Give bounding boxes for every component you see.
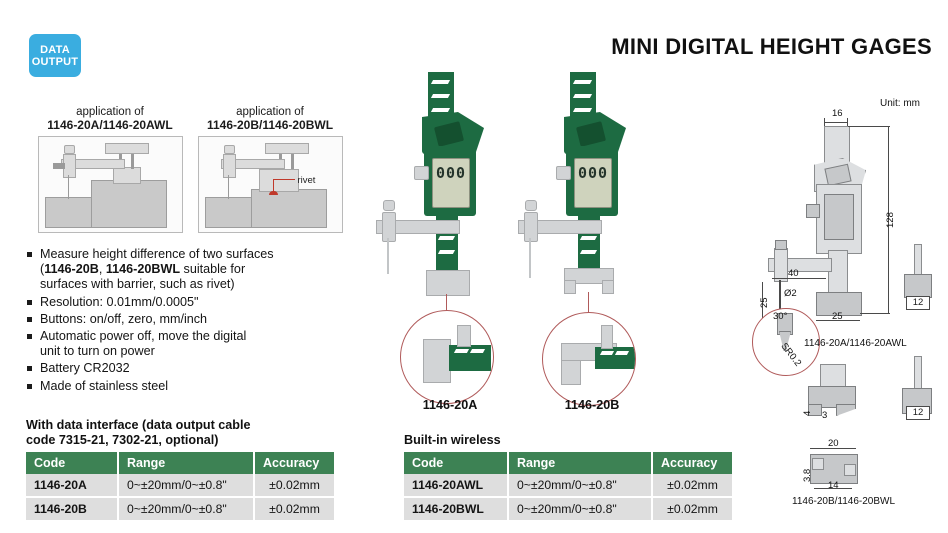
detail-callout-b xyxy=(542,312,636,406)
cell-accuracy: ±0.02mm xyxy=(254,497,334,520)
list-item: Battery CR2032 xyxy=(26,361,336,376)
dim-base-width: 25 xyxy=(832,311,843,322)
table-title: With data interface (data output cableco… xyxy=(26,418,334,448)
cell-code: 1146-20A xyxy=(26,474,118,497)
application-diagram-b: application of 1146-20B/1146-20BWL rivet xyxy=(194,106,346,233)
dim-part-b-width: 20 xyxy=(828,438,839,449)
spec-table-wireless: Built-in wireless Code Range Accuracy 11… xyxy=(404,433,732,520)
cell-code: 1146-20AWL xyxy=(404,474,508,497)
list-item: Made of stainless steel xyxy=(26,379,336,394)
application-frame-a xyxy=(38,136,183,233)
table: Code Range Accuracy 1146-20A 0~±20mm/0~±… xyxy=(26,452,334,520)
badge-line1: DATA xyxy=(40,44,70,56)
table: Code Range Accuracy 1146-20AWL 0~±20mm/0… xyxy=(404,452,732,520)
product-photo-b: 000 xyxy=(512,72,672,322)
list-item: Automatic power off, move the digitaluni… xyxy=(26,329,336,359)
application-diagram-a: application of 1146-20A/1146-20AWL xyxy=(34,106,186,233)
column-header-range: Range xyxy=(508,452,652,474)
lcd-display-b: 000 xyxy=(578,164,608,182)
column-header-code: Code xyxy=(404,452,508,474)
table-header-row: Code Range Accuracy xyxy=(26,452,334,474)
dim-part-b-step: 4 xyxy=(802,411,813,416)
dim-tip-radius: SR0.2 xyxy=(778,341,803,369)
cell-code: 1146-20B xyxy=(26,497,118,520)
column-header-accuracy: Accuracy xyxy=(652,452,732,474)
application-frame-b: rivet xyxy=(198,136,343,233)
list-item: Buttons: on/off, zero, mm/inch xyxy=(26,312,336,327)
product-label-b: 1146-20B xyxy=(532,398,652,412)
column-header-accuracy: Accuracy xyxy=(254,452,334,474)
dim-probe-length: 25 xyxy=(759,297,770,308)
data-output-badge: DATA OUTPUT xyxy=(29,34,81,77)
dim-tip-angle: 30° xyxy=(773,311,787,322)
cell-range: 0~±20mm/0~±0.8" xyxy=(508,474,652,497)
product-photo-a: 000 xyxy=(370,72,530,322)
unit-label: Unit: mm xyxy=(880,98,920,109)
dim-height: 128 xyxy=(885,212,896,228)
column-header-code: Code xyxy=(26,452,118,474)
dim-part-b-base: 14 xyxy=(828,480,839,491)
table-row: 1146-20B 0~±20mm/0~±0.8" ±0.02mm xyxy=(26,497,334,520)
table-header-row: Code Range Accuracy xyxy=(404,452,732,474)
table-row: 1146-20BWL 0~±20mm/0~±0.8" ±0.02mm xyxy=(404,497,732,520)
dim-tip-small-width: 12 xyxy=(906,296,930,310)
dim-part-b-height: 3.8 xyxy=(802,469,813,482)
table-title: Built-in wireless xyxy=(404,433,732,448)
drawing-label-a: 1146-20A/1146-20AWL xyxy=(804,338,907,349)
cell-code: 1146-20BWL xyxy=(404,497,508,520)
dim-part-b-lip: 3 xyxy=(822,410,827,421)
table-row: 1146-20A 0~±20mm/0~±0.8" ±0.02mm xyxy=(26,474,334,497)
cell-range: 0~±20mm/0~±0.8" xyxy=(118,474,254,497)
detail-callout-a xyxy=(400,310,494,404)
cell-range: 0~±20mm/0~±0.8" xyxy=(118,497,254,520)
application-caption-a: application of 1146-20A/1146-20AWL xyxy=(34,106,186,132)
application-caption-b-line2: 1146-20B/1146-20BWL xyxy=(194,119,346,132)
catalog-page: DATA OUTPUT MINI DIGITAL HEIGHT GAGES ap… xyxy=(0,0,948,533)
application-caption-b: application of 1146-20B/1146-20BWL xyxy=(194,106,346,132)
badge-line2: OUTPUT xyxy=(32,56,78,68)
table-row: 1146-20AWL 0~±20mm/0~±0.8" ±0.02mm xyxy=(404,474,732,497)
spec-table-data-interface: With data interface (data output cableco… xyxy=(26,418,334,520)
product-label-a: 1146-20A xyxy=(390,398,510,412)
cell-range: 0~±20mm/0~±0.8" xyxy=(508,497,652,520)
cell-accuracy: ±0.02mm xyxy=(652,474,732,497)
dim-part-b-tip-width: 12 xyxy=(906,406,930,420)
list-item: Measure height difference of two surface… xyxy=(26,247,336,293)
list-item: Resolution: 0.01mm/0.0005" xyxy=(26,295,336,310)
dim-arm-length: 40 xyxy=(788,268,799,279)
technical-drawing: Unit: mm 16 128 25 40 xyxy=(748,96,948,516)
dim-top-width: 16 xyxy=(832,108,843,119)
dim-probe-dia: Ø2 xyxy=(784,288,797,299)
page-title: MINI DIGITAL HEIGHT GAGES xyxy=(611,34,932,60)
rivet-label: rivet xyxy=(298,175,316,186)
application-caption-a-line2: 1146-20A/1146-20AWL xyxy=(34,119,186,132)
lcd-display-a: 000 xyxy=(436,164,466,182)
features-list: Measure height difference of two surface… xyxy=(26,247,336,396)
cell-accuracy: ±0.02mm xyxy=(652,497,732,520)
cell-accuracy: ±0.02mm xyxy=(254,474,334,497)
column-header-range: Range xyxy=(118,452,254,474)
drawing-label-b: 1146-20B/1146-20BWL xyxy=(792,496,895,507)
